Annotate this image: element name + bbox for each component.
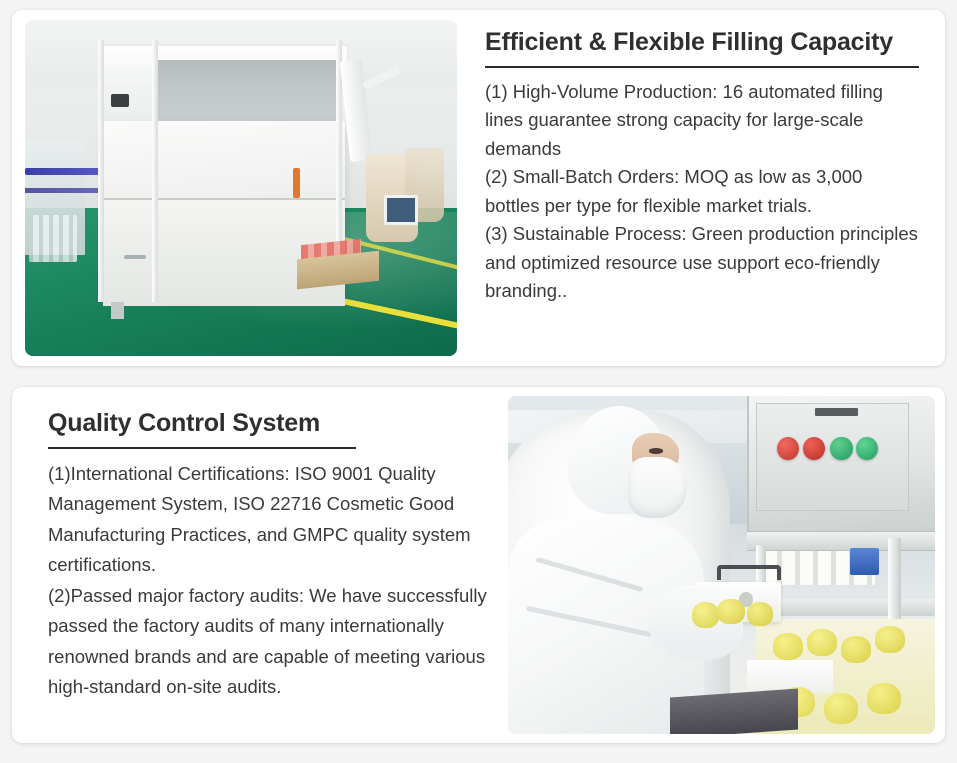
- yellow-product-item: [824, 693, 858, 723]
- machine-sensor: [111, 94, 128, 107]
- yellow-product-in-hand: [717, 599, 745, 624]
- left-bottles: [29, 215, 77, 262]
- worker-face-mask: [628, 457, 688, 518]
- filling-line-image-canvas: [25, 20, 457, 356]
- machine-frame-middle: [152, 40, 158, 302]
- machine-foot: [111, 302, 124, 319]
- yellow-product-item: [875, 626, 905, 653]
- feature-card-filling-capacity: Efficient & Flexible Filling Capacity (1…: [12, 10, 945, 366]
- yellow-product-in-hand: [747, 602, 773, 626]
- quality-control-text-block: Quality Control System (1)International …: [12, 387, 508, 713]
- hmi-touch-panel: [384, 195, 419, 225]
- filling-capacity-text-block: Efficient & Flexible Filling Capacity (1…: [457, 10, 945, 316]
- heading-underline-filling: [485, 66, 919, 68]
- yellow-product-item: [773, 633, 803, 660]
- blue-machine-part: [850, 548, 880, 575]
- cleanroom-quality-inspection-photo: [508, 396, 935, 734]
- blue-conveyor-rail-2: [25, 188, 107, 193]
- press-beam-upper: [747, 531, 935, 551]
- page-title-filling-capacity: Efficient & Flexible Filling Capacity: [485, 28, 919, 57]
- dark-bench-edge: [670, 689, 798, 734]
- heading-underline-quality: [48, 447, 356, 449]
- yellow-product-item: [841, 636, 871, 663]
- filling-capacity-body-text: (1) High-Volume Production: 16 automated…: [485, 78, 919, 306]
- feature-card-quality-control: Quality Control System (1)International …: [12, 387, 945, 743]
- worker-eye: [649, 448, 664, 453]
- orange-handle: [293, 168, 300, 198]
- machine-door-handle: [124, 255, 146, 259]
- yellow-product-in-hand: [692, 602, 720, 627]
- red-push-button-icon: [803, 437, 825, 461]
- mold-plate-handle: [717, 565, 781, 580]
- product-feature-page: Efficient & Flexible Filling Capacity (1…: [0, 0, 957, 763]
- cleanroom-image-canvas: [508, 396, 935, 734]
- panel-label: [815, 408, 858, 416]
- yellow-product-item: [867, 683, 901, 713]
- page-title-quality-control: Quality Control System: [48, 409, 496, 438]
- yellow-product-item: [807, 629, 837, 656]
- automatic-filling-line-photo: [25, 20, 457, 356]
- green-push-button-icon: [830, 437, 852, 461]
- machine-frame-left: [98, 40, 104, 302]
- quality-control-body-text: (1)International Certifications: ISO 900…: [48, 459, 496, 703]
